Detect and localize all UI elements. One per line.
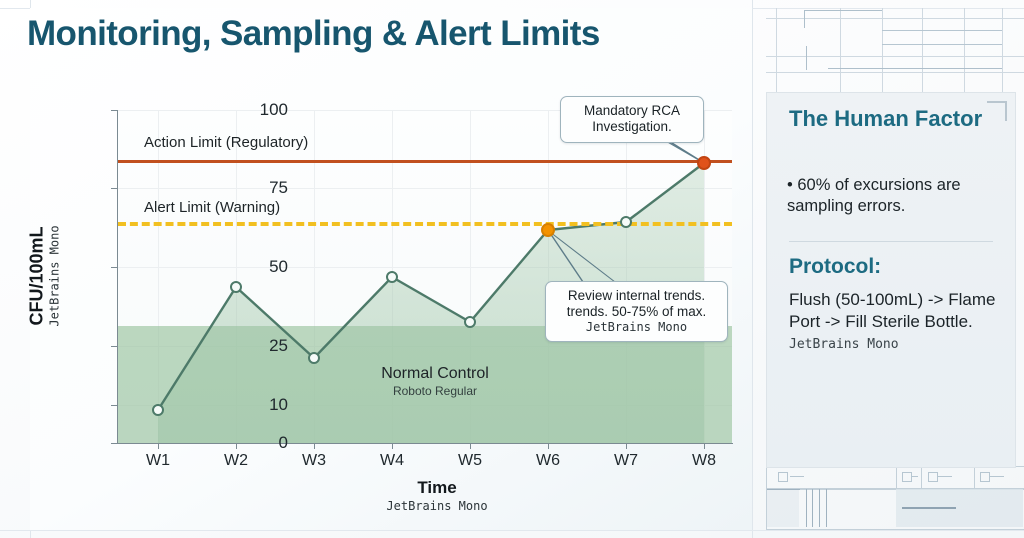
x-axis-title-main: Time	[386, 478, 487, 498]
y-tick-label-75: 75	[244, 178, 288, 198]
data-point-w7[interactable]	[620, 216, 632, 228]
x-tickmark-w6	[548, 443, 549, 449]
side-panel-heading: The Human Factor	[789, 107, 989, 132]
slide-root: Monitoring, Sampling & Alert Limits	[0, 0, 1024, 538]
data-point-w2[interactable]	[230, 281, 242, 293]
protocol-steps: Flush (50-100mL) -> Flame Port -> Fill S…	[789, 290, 995, 331]
data-point-w1[interactable]	[152, 404, 164, 416]
corner-bracket-icon	[987, 101, 1007, 121]
y-tickmark-50	[111, 267, 117, 268]
data-point-w8[interactable]	[697, 156, 711, 170]
x-tick-label-w8: W8	[692, 452, 716, 470]
page-guide-bottom	[0, 530, 1024, 531]
y-tickmark-10	[111, 405, 117, 406]
x-tickmark-w1	[158, 443, 159, 449]
x-tick-label-w1: W1	[146, 452, 170, 470]
callout-review-line2: trends. 50-75% of max.	[556, 304, 717, 320]
y-tick-label-0: 0	[244, 433, 288, 453]
x-tick-label-w5: W5	[458, 452, 482, 470]
y-tickmark-0	[111, 443, 117, 444]
y-tick-label-10: 10	[244, 395, 288, 415]
x-tick-label-w6: W6	[536, 452, 560, 470]
data-point-w3[interactable]	[308, 352, 320, 364]
action-limit-line	[118, 160, 732, 163]
y-tick-label-100: 100	[244, 100, 288, 120]
side-panel-bullet: • 60% of excursions are sampling errors.	[787, 175, 997, 217]
callout-review-trends[interactable]: Review internal trends. trends. 50-75% o…	[545, 281, 728, 342]
protocol-heading: Protocol:	[789, 255, 881, 279]
alert-limit-line	[118, 222, 732, 226]
band-label-sub: Roboto Regular	[381, 384, 489, 398]
callout-rca-line2: Investigation.	[571, 119, 693, 135]
data-point-w4[interactable]	[386, 271, 398, 283]
x-tickmark-w5	[470, 443, 471, 449]
side-panel: The Human Factor • 60% of excursions are…	[766, 92, 1016, 468]
protocol-text: Flush (50-100mL) -> Flame Port -> Fill S…	[789, 289, 1004, 354]
x-axis-title-sub: JetBrains Mono	[386, 499, 487, 513]
data-point-w5[interactable]	[464, 316, 476, 328]
y-axis-title-sub: JetBrains Mono	[48, 225, 62, 326]
y-tickmark-100	[111, 110, 117, 111]
x-tickmark-w3	[314, 443, 315, 449]
page-title: Monitoring, Sampling & Alert Limits	[27, 14, 600, 54]
y-axis-title-main: CFU/100mL	[27, 225, 48, 326]
x-tick-label-w7: W7	[614, 452, 638, 470]
callout-review-line1: Review internal trends.	[556, 288, 717, 304]
callout-review-mono: JetBrains Mono	[556, 320, 717, 334]
normal-control-label: Normal Control Roboto Regular	[381, 365, 489, 398]
y-axis-title: CFU/100mL JetBrains Mono	[27, 225, 62, 326]
x-tick-label-w4: W4	[380, 452, 404, 470]
data-point-w6[interactable]	[541, 223, 555, 237]
x-axis-line	[117, 443, 733, 444]
x-tickmark-w7	[626, 443, 627, 449]
x-tick-label-w3: W3	[302, 452, 326, 470]
band-label-main: Normal Control	[381, 365, 489, 383]
alert-limit-label: Alert Limit (Warning)	[144, 199, 280, 216]
page-guide-right	[752, 0, 753, 538]
y-tickmark-25	[111, 346, 117, 347]
protocol-mono-label: JetBrains Mono	[789, 337, 1004, 354]
y-axis-line	[117, 110, 118, 444]
x-tickmark-w2	[236, 443, 237, 449]
side-panel-divider	[789, 241, 993, 242]
x-tick-label-w2: W2	[224, 452, 248, 470]
callout-mandatory-rca[interactable]: Mandatory RCA Investigation.	[560, 96, 704, 143]
y-tick-label-25: 25	[244, 336, 288, 356]
x-tickmark-w4	[392, 443, 393, 449]
callout-rca-line1: Mandatory RCA	[571, 103, 693, 119]
y-tick-label-50: 50	[244, 257, 288, 277]
y-tickmark-75	[111, 188, 117, 189]
x-axis-title: Time JetBrains Mono	[386, 478, 487, 513]
plot-area: Action Limit (Regulatory) Alert Limit (W…	[118, 110, 732, 443]
action-limit-label: Action Limit (Regulatory)	[144, 134, 308, 151]
x-tickmark-w8	[704, 443, 705, 449]
